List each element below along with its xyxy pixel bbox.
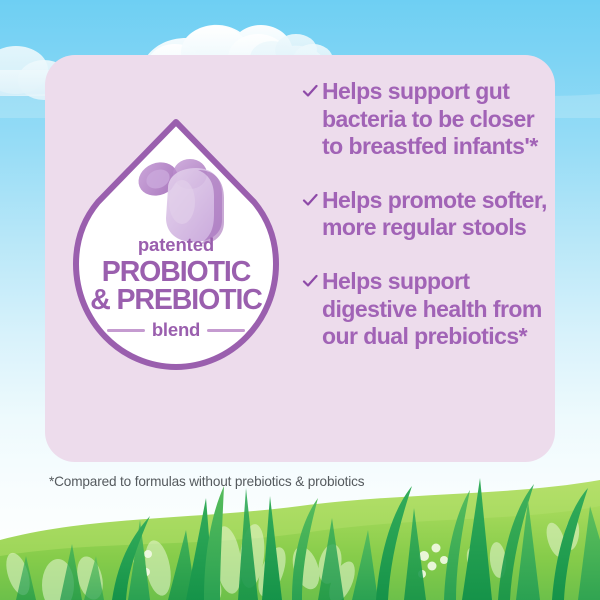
- badge-line-patented: patented: [72, 236, 280, 255]
- badge-line-prebiotic: & PREBIOTIC: [72, 286, 280, 315]
- badge-text-block: patented PROBIOTIC & PREBIOTIC blend: [72, 236, 280, 340]
- checkmark-icon: [302, 192, 318, 216]
- product-benefits-graphic: patented PROBIOTIC & PREBIOTIC blend Hel…: [0, 0, 600, 600]
- footnote-text: *Compared to formulas without prebiotics…: [49, 474, 364, 489]
- rule-left: [107, 329, 145, 332]
- checkmark-icon: [302, 83, 318, 107]
- benefit-item-2: Helps promote softer, more regular stool…: [302, 187, 552, 242]
- benefit-text-2: Helps promote softer, more regular stool…: [322, 187, 552, 242]
- rule-right: [207, 329, 245, 332]
- benefit-text-3: Helps support digestive health from our …: [322, 268, 552, 351]
- badge-line-probiotic: PROBIOTIC: [72, 258, 280, 287]
- benefit-item-3: Helps support digestive health from our …: [302, 268, 552, 351]
- benefit-text-1: Helps support gut bacteria to be closer …: [322, 78, 552, 161]
- benefits-list: Helps support gut bacteria to be closer …: [302, 78, 552, 351]
- checkmark-icon: [302, 273, 318, 297]
- badge-blend-row: blend: [72, 321, 280, 340]
- badge-line-blend: blend: [152, 321, 200, 340]
- benefit-item-1: Helps support gut bacteria to be closer …: [302, 78, 552, 161]
